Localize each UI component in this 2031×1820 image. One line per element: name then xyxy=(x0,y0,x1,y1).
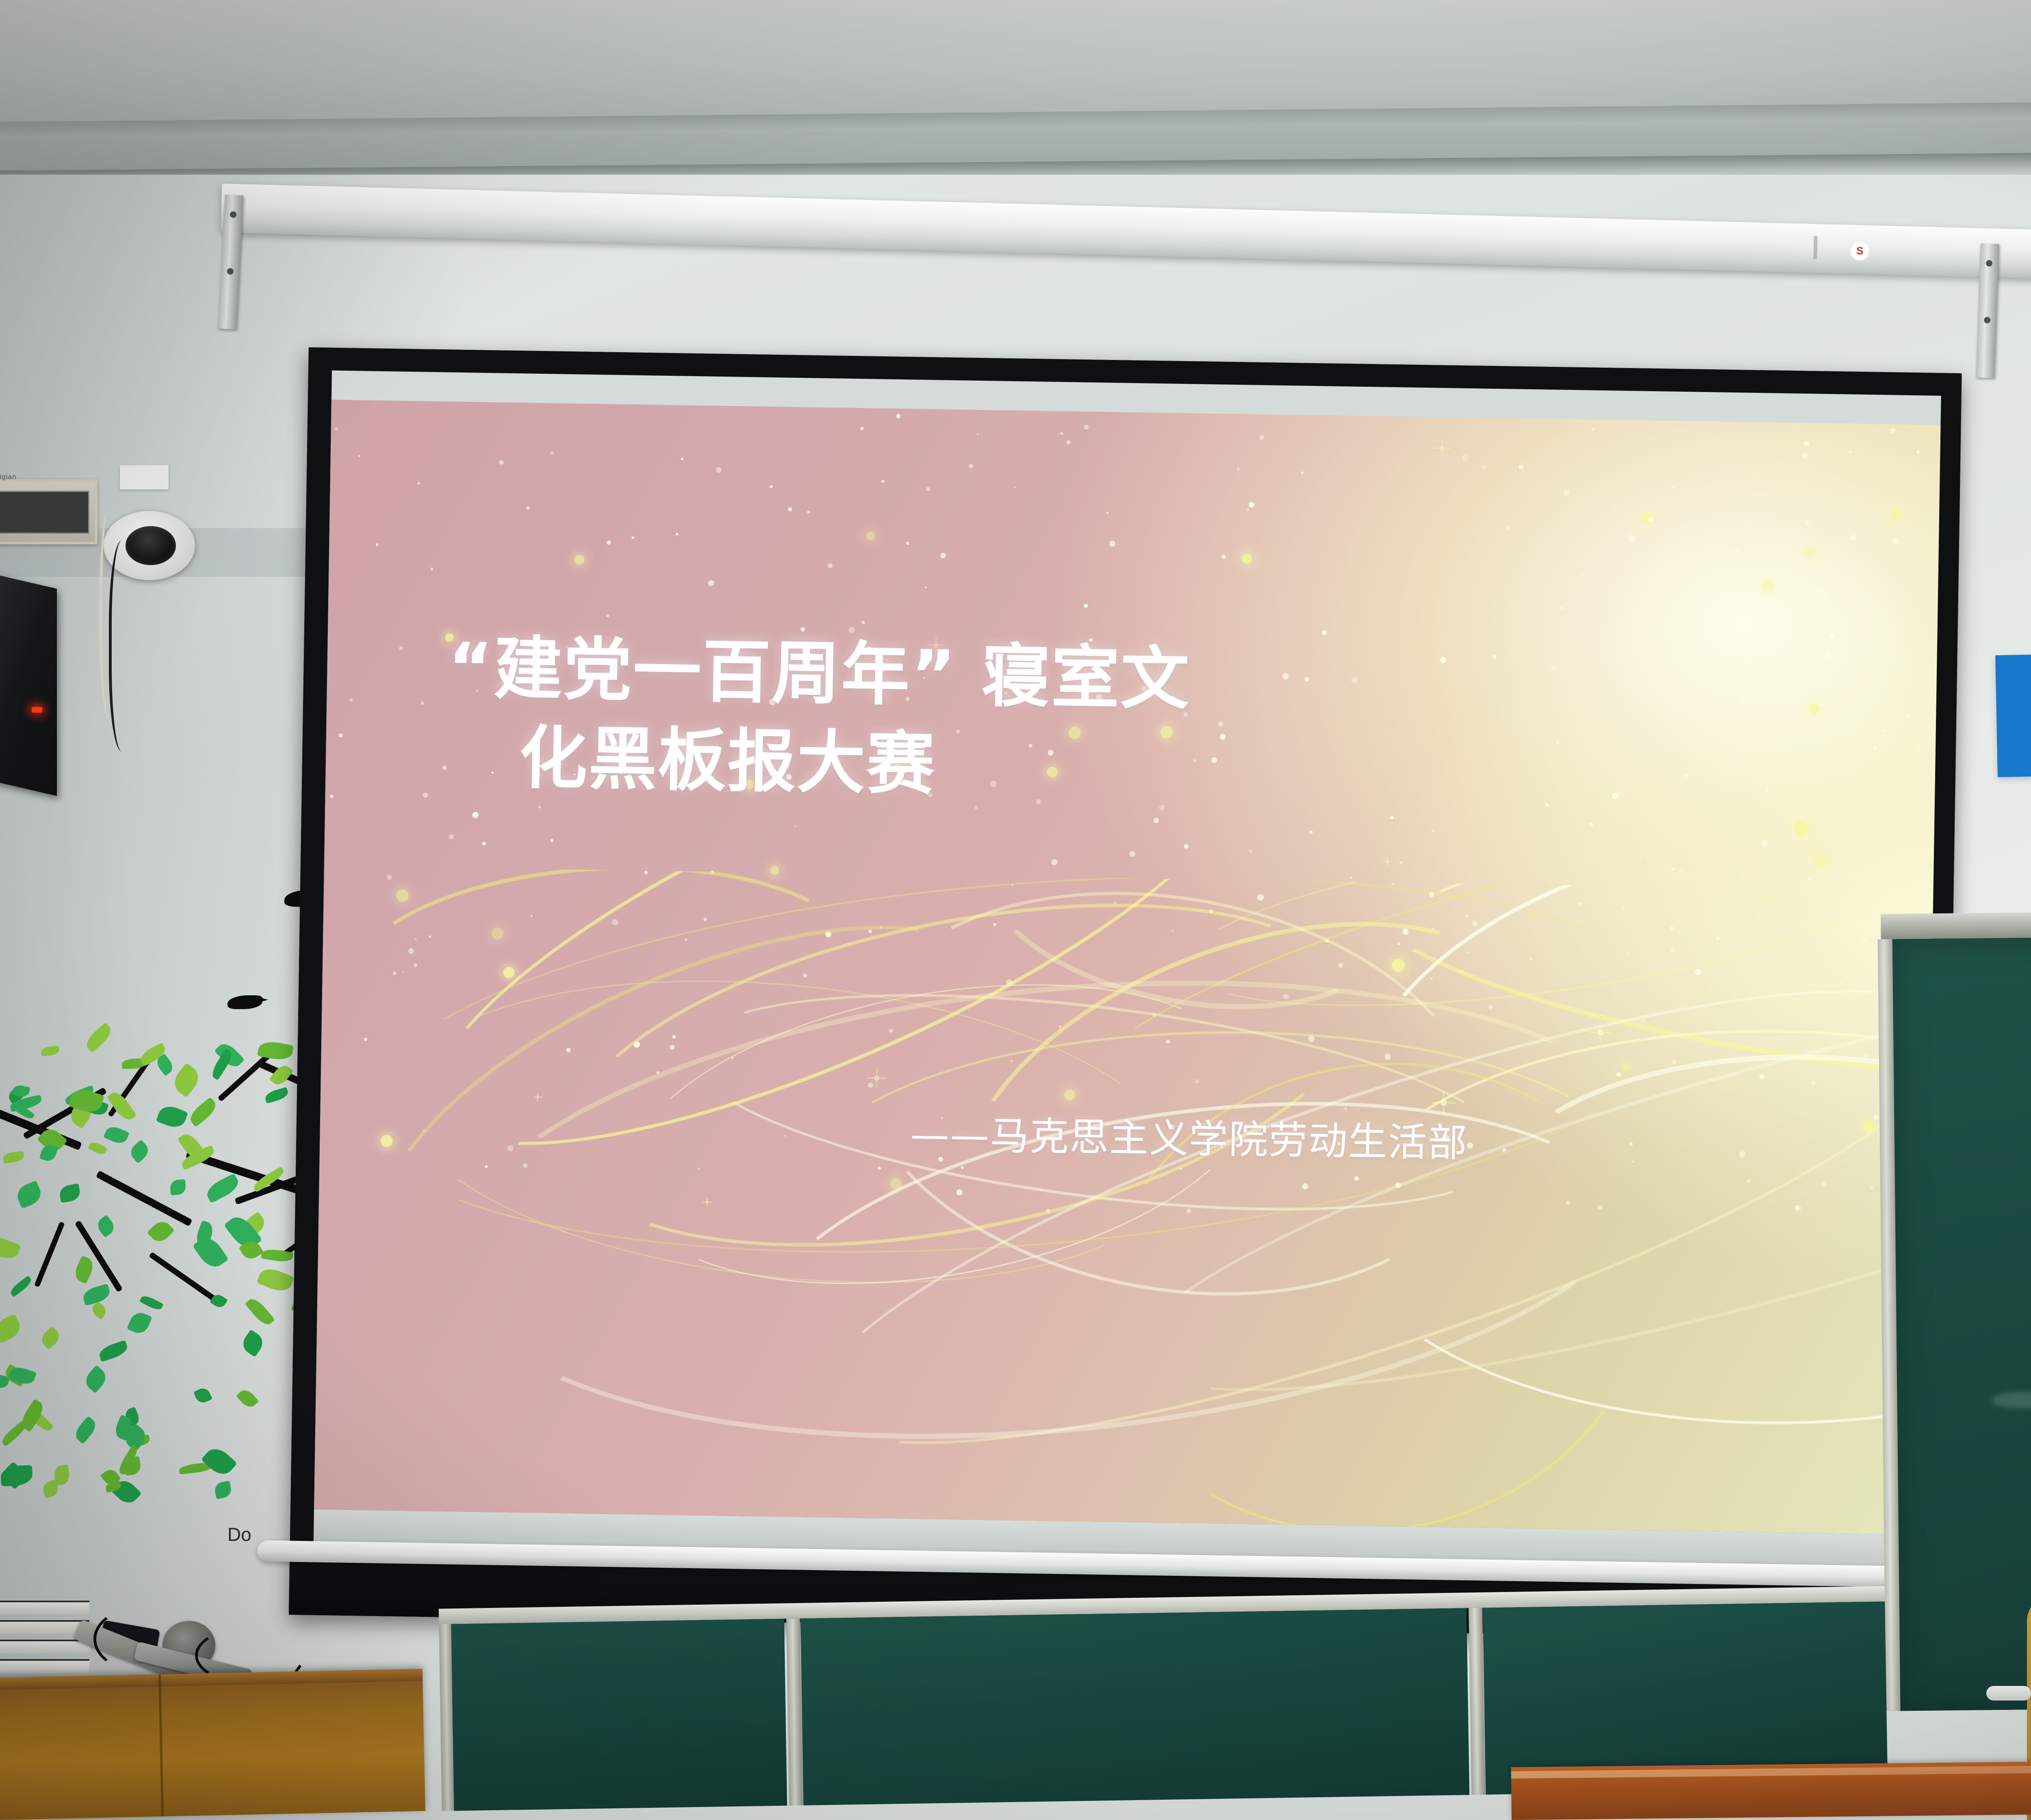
decal-leaf xyxy=(239,1330,266,1358)
wall-sign-zi: 自 xyxy=(1995,653,2031,777)
decal-leaf xyxy=(14,1181,44,1209)
decal-leaf xyxy=(72,1416,99,1444)
decal-leaf xyxy=(214,1481,233,1499)
decal-leaf xyxy=(94,1215,117,1238)
desk-edge xyxy=(158,1674,164,1816)
decal-bird-icon xyxy=(227,995,262,1009)
decal-leaf xyxy=(72,1255,96,1284)
classroom-scene: Meigian Do S “建党一百周年” 寝室文 化黑板报大赛 ——马 xyxy=(0,0,2031,1820)
decal-leaf xyxy=(103,1124,130,1146)
decal-leaf xyxy=(88,1140,108,1157)
ceiling-seam xyxy=(0,95,2031,139)
wall-text-do: Do xyxy=(227,1523,251,1545)
decal-leaf xyxy=(170,1179,186,1195)
screen-surface: “建党一百周年” 寝室文 化黑板报大赛 ——马克思主义学院劳动生活部 xyxy=(314,370,1941,1535)
decal-leaf xyxy=(54,1465,70,1486)
decal-leaf xyxy=(236,1387,259,1410)
side-desk xyxy=(0,1669,425,1820)
chalkboard-panel xyxy=(451,1619,787,1811)
decal-leaf xyxy=(58,1183,81,1203)
decal-leaf xyxy=(9,1276,33,1297)
electrical-panel-breakers xyxy=(0,491,89,534)
decal-leaf xyxy=(41,1045,60,1056)
decal-leaf xyxy=(39,1326,63,1350)
electrical-panel[interactable]: Meigian xyxy=(0,479,97,544)
decal-leaf xyxy=(0,1420,28,1447)
slide-title: “建党一百周年” 寝室文 化黑板报大赛 xyxy=(446,624,1768,822)
presenter-person xyxy=(2015,1276,2031,1820)
microphone[interactable] xyxy=(1986,1686,2031,1701)
presentation-slide: “建党一百周年” 寝室文 化黑板报大赛 ——马克思主义学院劳动生活部 xyxy=(314,400,1940,1535)
decal-leaf xyxy=(0,1314,24,1343)
chalkboard-panel xyxy=(1892,934,2031,1711)
junction-box xyxy=(120,465,169,490)
decal-branch xyxy=(34,1221,65,1287)
electrical-panel-brand: Meigian xyxy=(0,473,17,481)
decal-branch xyxy=(96,1170,193,1226)
decal-leaf xyxy=(147,1218,175,1245)
decal-leaf xyxy=(256,1265,294,1295)
decal-leaf xyxy=(2,1151,25,1163)
chalkboard-right xyxy=(1881,905,2031,1727)
decal-leaf xyxy=(97,1340,129,1362)
power-led-indicator xyxy=(32,707,42,713)
housing-vent xyxy=(1813,236,1817,259)
projection-screen[interactable]: “建党一百周年” 寝室文 化黑板报大赛 ——马克思主义学院劳动生活部 xyxy=(289,347,1962,1641)
decal-leaf xyxy=(156,1103,188,1131)
decal-leaf xyxy=(127,1310,152,1336)
decal-leaf xyxy=(187,1097,219,1127)
light-ribbon-graphic xyxy=(314,866,1933,1535)
decal-leaf xyxy=(245,1296,275,1328)
slide-title-line2: 化黑板报大赛 xyxy=(446,712,1767,821)
decal-leaf xyxy=(264,1087,289,1104)
audio-amplifier[interactable] xyxy=(0,573,57,796)
decal-leaf xyxy=(0,1233,21,1263)
decal-leaf xyxy=(82,1365,110,1394)
slide-title-line1: “建党一百周年” 寝室文 xyxy=(447,628,1191,719)
decal-leaf xyxy=(169,1062,204,1098)
chalkboard-panel xyxy=(800,1608,1469,1805)
cable xyxy=(93,1605,199,1674)
decal-leaf xyxy=(0,1465,33,1486)
chalkboard-divider xyxy=(1468,1608,1485,1795)
tree-wall-decal xyxy=(0,886,325,1519)
wall-cable xyxy=(109,540,141,752)
decal-leaf xyxy=(128,1140,152,1163)
brand-logo-icon: S xyxy=(1849,240,1870,261)
chalkboard-divider xyxy=(786,1618,803,1805)
decal-leaf xyxy=(140,1293,164,1312)
decal-leaf xyxy=(83,1023,115,1053)
decal-leaf xyxy=(201,1443,238,1479)
decal-leaf xyxy=(193,1386,212,1405)
